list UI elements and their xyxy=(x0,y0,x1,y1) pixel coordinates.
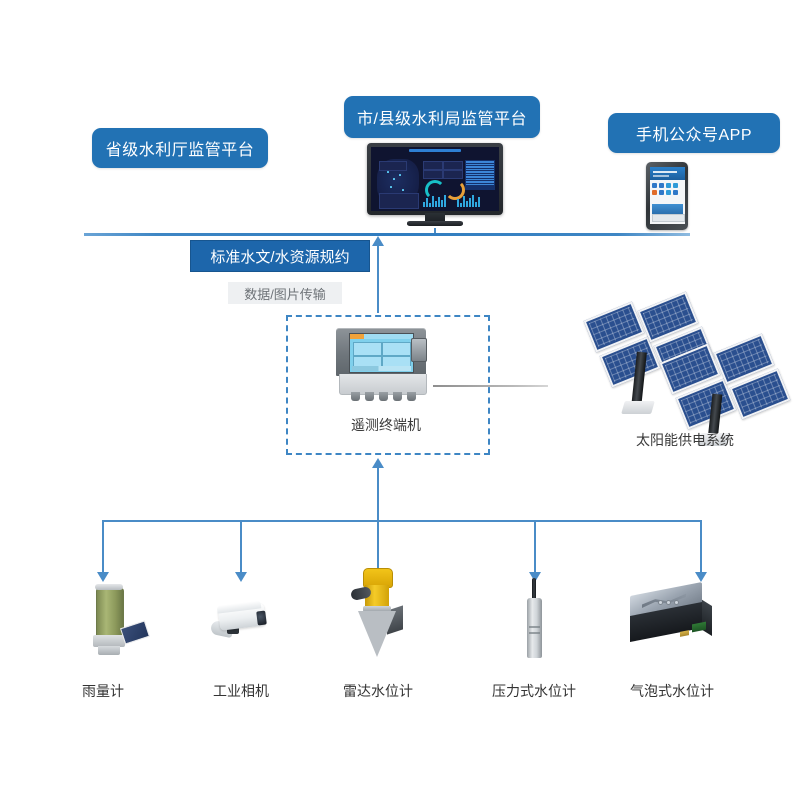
rain-gauge-base xyxy=(98,646,120,655)
app-icon-grid xyxy=(652,183,683,195)
app-list-row xyxy=(652,214,685,222)
transmission-label: 数据/图片传输 xyxy=(228,282,342,304)
camera-lens xyxy=(256,611,267,626)
diagram-canvas: 省级水利厅监管平台 市/县级水利局监管平台 手机公众号APP xyxy=(0,0,800,800)
data-table-panel xyxy=(465,160,495,190)
uplink-line xyxy=(377,245,379,313)
branch-arrow-rain xyxy=(97,572,109,582)
sensor-bus-line xyxy=(102,520,700,522)
branch-line-radar xyxy=(377,520,379,572)
sensor-label-industrial-camera: 工业相机 xyxy=(196,681,286,701)
smartphone-icon xyxy=(646,162,688,232)
rtu-connector-port xyxy=(411,338,427,362)
branch-arrow-camera xyxy=(235,572,247,582)
bar-chart-1 xyxy=(423,195,446,207)
dashboard-title-bar xyxy=(409,149,461,152)
pressure-level-sensor-icon xyxy=(522,578,548,660)
rtu-device-icon xyxy=(333,328,441,403)
rain-gauge-solar-panel xyxy=(120,620,150,644)
platform-card-app[interactable]: 手机公众号APP xyxy=(608,113,780,153)
monitor-dashboard-screen xyxy=(371,147,499,211)
solar-caption-label: 太阳能供电系统 xyxy=(580,430,790,450)
sensor-uplink-line xyxy=(377,468,379,522)
app-footer-banner xyxy=(652,204,683,214)
radar-horn-antenna xyxy=(358,611,396,657)
platform-card-city[interactable]: 市/县级水利局监管平台 xyxy=(344,96,540,138)
rain-gauge-cap xyxy=(95,584,123,590)
branch-line-rain xyxy=(102,520,104,574)
sensor-label-bubbler-level: 气泡式水位计 xyxy=(616,681,728,701)
solar-pole-base xyxy=(621,401,655,414)
network-backbone-line xyxy=(84,233,690,236)
rain-gauge-icon xyxy=(82,583,154,657)
phone-app-screen xyxy=(650,167,685,224)
branch-line-bubbler xyxy=(700,520,702,574)
sensor-cable xyxy=(532,578,536,600)
bubbler-connector xyxy=(680,630,689,637)
rtu-housing xyxy=(336,328,426,376)
sensor-label-rain-gauge: 雨量计 xyxy=(58,681,148,701)
branch-line-pressure xyxy=(534,520,536,574)
industrial-camera-icon xyxy=(205,600,277,650)
sensor-label-radar-level: 雷达水位计 xyxy=(326,681,430,701)
antenna-rod-icon xyxy=(433,385,548,387)
rtu-status-bar xyxy=(350,334,413,339)
kpi-chip xyxy=(379,161,407,171)
line-chart-panel xyxy=(379,193,419,209)
branch-arrow-bubbler xyxy=(695,572,707,582)
uplink-arrowhead xyxy=(372,236,384,246)
monitor-base xyxy=(407,221,463,226)
app-header-banner xyxy=(650,167,685,180)
sensor-uplink-arrowhead xyxy=(372,458,384,468)
protocol-standard-label: 标准水文/水资源规约 xyxy=(190,240,370,272)
bar-chart-2 xyxy=(457,195,480,207)
desktop-monitor-icon xyxy=(367,143,503,228)
rtu-display xyxy=(349,333,414,373)
platform-card-province[interactable]: 省级水利厅监管平台 xyxy=(92,128,268,168)
radar-level-meter-icon xyxy=(345,566,413,662)
sensor-probe-body xyxy=(527,598,542,658)
branch-line-camera xyxy=(240,520,242,574)
phone-body xyxy=(646,162,688,230)
bubbler-level-gauge-icon xyxy=(630,589,714,651)
sensor-label-pressure-level: 压力式水位计 xyxy=(478,681,590,701)
monitor-bezel xyxy=(367,143,503,215)
rtu-caption-label: 遥测终端机 xyxy=(286,415,486,435)
